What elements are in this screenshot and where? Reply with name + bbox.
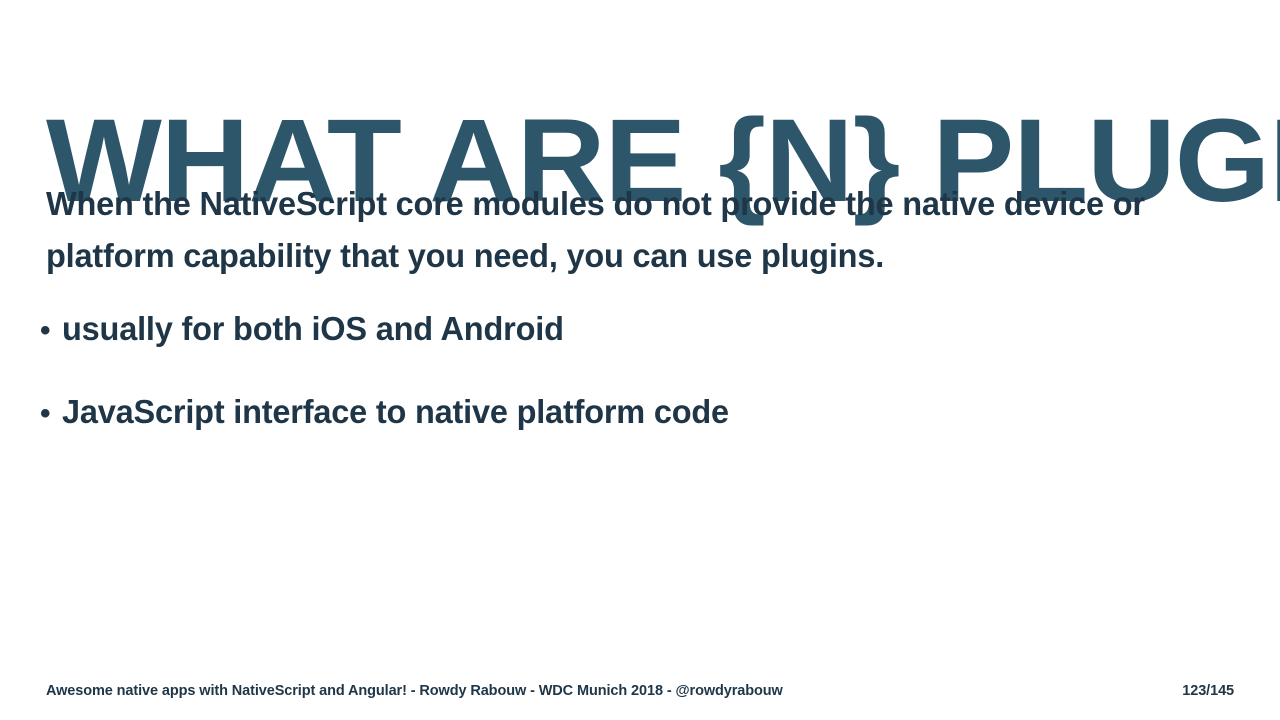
page-counter: 123/145 (1182, 681, 1234, 701)
footer-attribution: Awesome native apps with NativeScript an… (46, 681, 783, 701)
body-block: When the NativeScript core modules do no… (46, 178, 1206, 282)
slide-footer: Awesome native apps with NativeScript an… (46, 681, 1234, 701)
bullet-dot-icon: • (40, 308, 62, 354)
bullet-list: • usually for both iOS and Android • Jav… (40, 306, 1220, 472)
list-item: • JavaScript interface to native platfor… (40, 389, 1220, 437)
list-item-label: JavaScript interface to native platform … (62, 389, 729, 435)
presentation-slide: WHAT ARE {N} PLUGINS? When the NativeScr… (0, 0, 1280, 720)
list-item: • usually for both iOS and Android (40, 306, 1220, 354)
body-paragraph: When the NativeScript core modules do no… (46, 178, 1189, 282)
bullet-dot-icon: • (40, 391, 62, 437)
list-item-label: usually for both iOS and Android (62, 306, 564, 352)
